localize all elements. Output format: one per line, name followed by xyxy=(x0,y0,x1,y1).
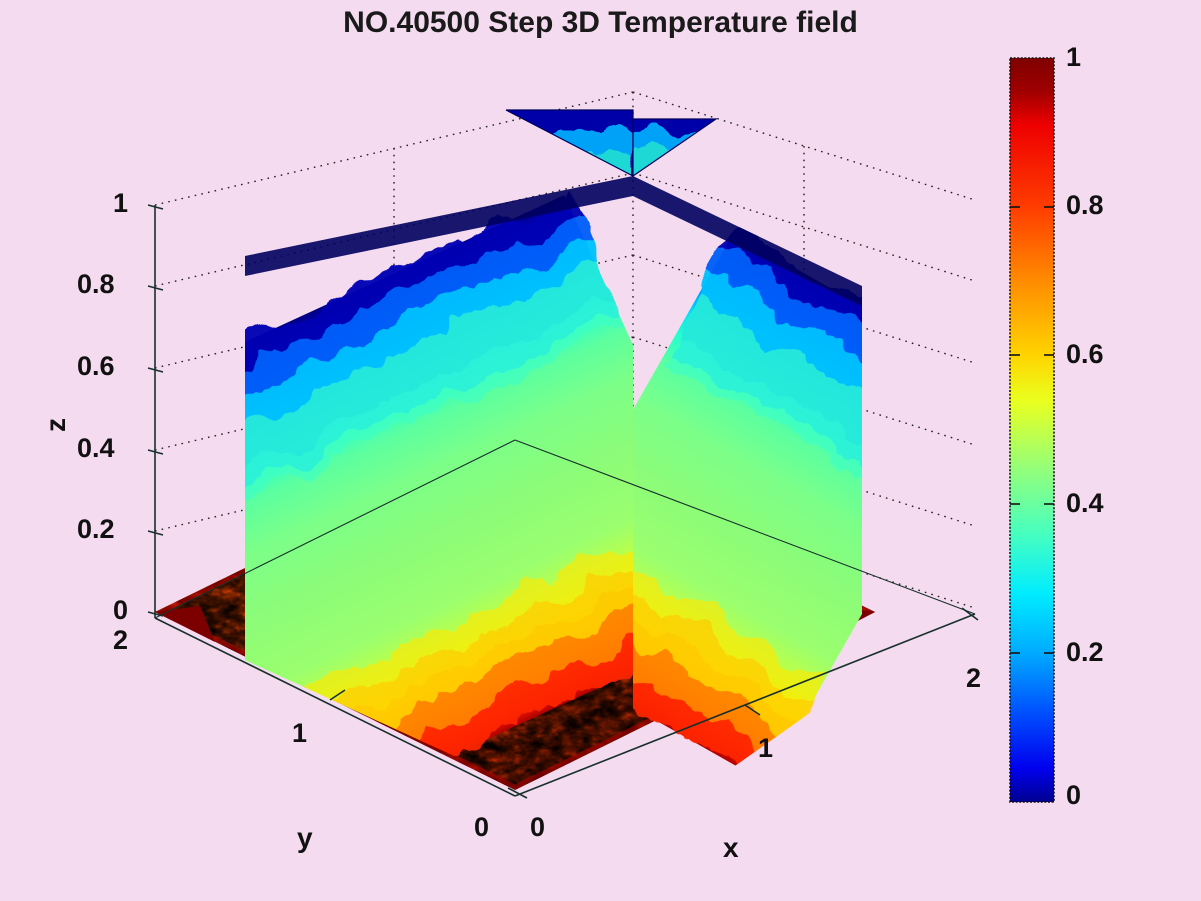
z-axis-label: z xyxy=(40,418,72,432)
figure-canvas: NO.40500 Step 3D Temperature field xyxy=(0,0,1201,901)
z-tick-0_8: 0.8 xyxy=(77,269,115,300)
colorbar-tick-0_2: 0.2 xyxy=(1066,637,1104,668)
z-tick-1: 1 xyxy=(113,188,128,219)
x-tick-1: 1 xyxy=(758,733,773,764)
z-tick-0_6: 0.6 xyxy=(77,351,115,382)
x-tick-0: 0 xyxy=(530,812,545,843)
x-tick-2: 2 xyxy=(966,663,981,694)
z-tick-0_2: 0.2 xyxy=(77,514,115,545)
z-tick-0_4: 0.4 xyxy=(77,433,115,464)
colorbar-tick-1: 1 xyxy=(1066,42,1081,73)
colorbar-tick-0_8: 0.8 xyxy=(1066,190,1104,221)
y-tick-0: 0 xyxy=(474,812,489,843)
colorbar[interactable] xyxy=(1010,58,1054,802)
slice-upper-wing-right xyxy=(630,119,725,192)
plot-area xyxy=(0,0,1201,901)
y-axis-label: y xyxy=(297,822,313,854)
y-tick-2: 2 xyxy=(113,625,128,656)
x-axis-label: x xyxy=(723,832,739,864)
z-tick-0: 0 xyxy=(113,595,128,626)
colorbar-tick-0: 0 xyxy=(1066,780,1081,811)
y-tick-1: 1 xyxy=(292,718,307,749)
colorbar-tick-0_6: 0.6 xyxy=(1066,339,1104,370)
colorbar-tick-0_4: 0.4 xyxy=(1066,488,1104,519)
